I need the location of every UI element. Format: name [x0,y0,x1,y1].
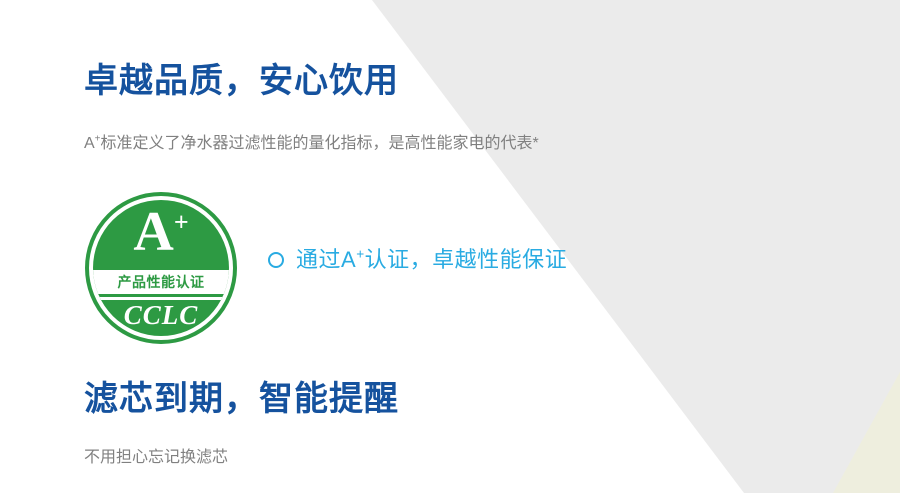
subtitle-rest: 标准定义了净水器过滤性能的量化指标，是高性能家电的代表* [100,135,538,152]
badge-band-label: 产品性能认证 [93,270,229,294]
bullet-prefix: 通过A [296,247,356,272]
certification-bullet-text: 通过A+认证，卓越性能保证 [296,249,567,271]
subtitle-prefix: A [84,135,95,152]
a-plus-certification-badge: A+ 产品性能认证 CCLC [85,192,237,344]
certification-bullet-item: 通过A+认证，卓越性能保证 [268,249,567,271]
circle-bullet-icon [268,252,284,268]
section-subtitle-quality: A+标准定义了净水器过滤性能的量化指标，是高性能家电的代表* [84,136,539,152]
badge-organization-label: CCLC [93,302,229,329]
bullet-rest: 认证，卓越性能保证 [365,247,568,272]
promo-banner: 卓越品质，安心饮用 A+标准定义了净水器过滤性能的量化指标，是高性能家电的代表*… [0,0,900,493]
badge-grade-letter: A [133,201,173,263]
section-subtitle-filter-reminder: 不用担心忘记换滤芯 [84,450,228,466]
section-title-quality: 卓越品质，安心饮用 [84,64,399,98]
badge-grade-label: A+ [93,204,229,260]
section-title-filter-reminder: 滤芯到期，智能提醒 [84,382,399,416]
badge-grade-plus: + [174,207,189,236]
badge-inner-disc: A+ 产品性能认证 CCLC [93,200,229,336]
bullet-superscript-plus: + [356,247,364,262]
